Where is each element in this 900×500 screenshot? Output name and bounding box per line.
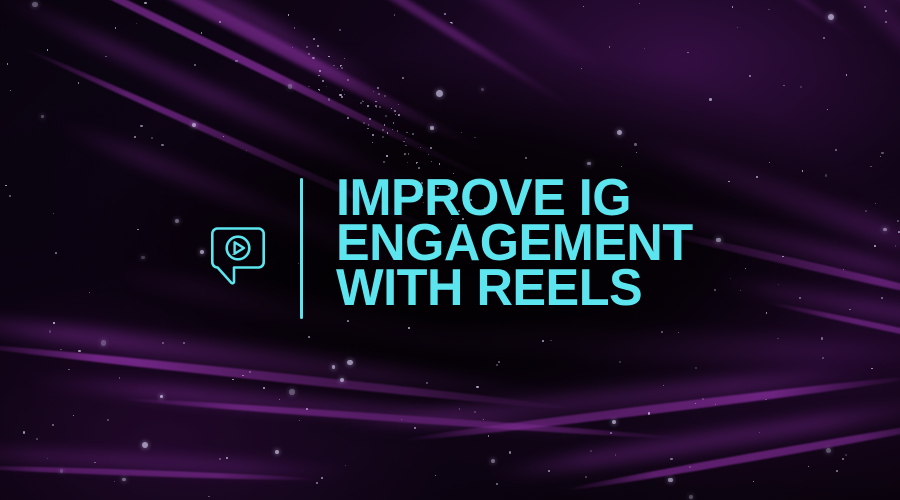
play-speech-bubble-icon [208,224,268,295]
promo-banner: IMPROVE IG ENGAGEMENT WITH REELS [0,0,900,500]
vertical-divider [300,178,303,319]
headline: IMPROVE IG ENGAGEMENT WITH REELS [336,176,866,311]
headline-line-3: WITH REELS [336,266,850,311]
banner-content: IMPROVE IG ENGAGEMENT WITH REELS [0,0,900,500]
